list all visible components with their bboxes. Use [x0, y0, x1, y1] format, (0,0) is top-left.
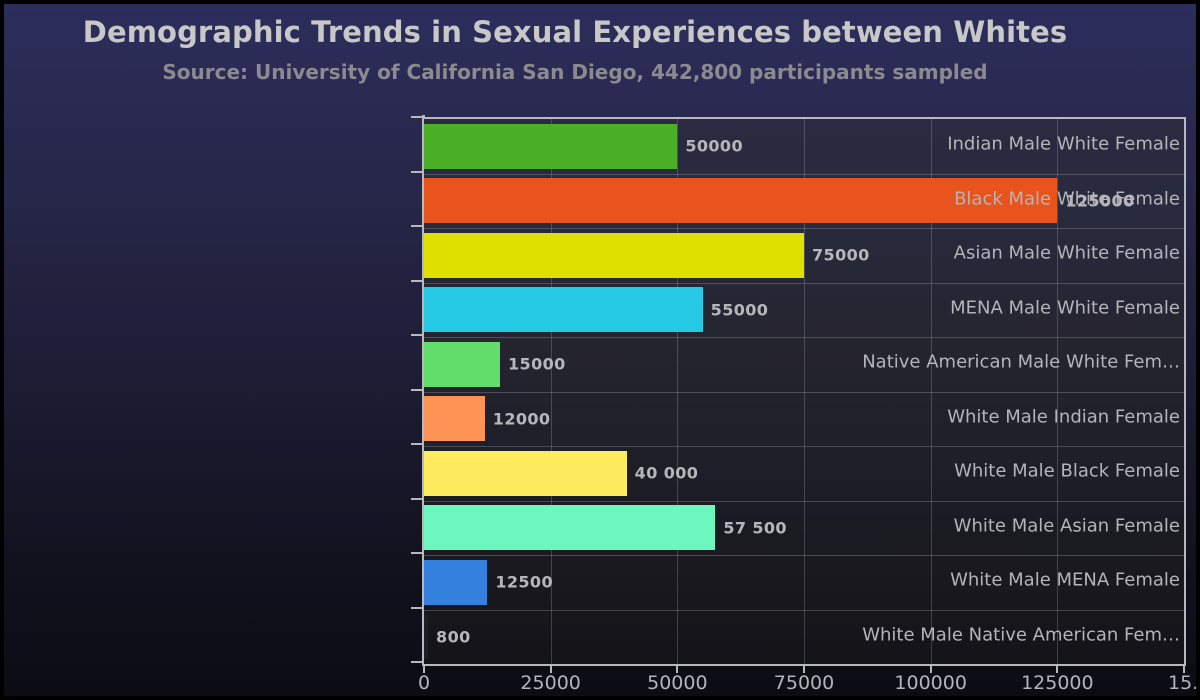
bar[interactable] [424, 505, 715, 550]
x-axis-tick-label: 125000 [1021, 672, 1094, 694]
bar[interactable] [424, 451, 627, 496]
x-axis-tick-label: 100000 [894, 672, 967, 694]
title-block: Demographic Trends in Sexual Experiences… [4, 14, 1196, 84]
y-axis-tick-label: Black Male White Female [786, 188, 1196, 209]
horizontal-gridline [424, 610, 1184, 611]
y-axis-tick-mark [411, 280, 422, 282]
bar-value-label: 12500 [495, 573, 553, 592]
bar-value-label: 40 000 [635, 464, 699, 483]
horizontal-gridline [424, 283, 1184, 284]
y-axis-tick-label: White Male Asian Female [786, 515, 1196, 536]
y-axis-tick-mark [411, 389, 422, 391]
bar[interactable] [424, 233, 804, 278]
bar-value-label: 15000 [508, 355, 566, 374]
y-axis-tick-mark [411, 607, 422, 609]
bar[interactable] [424, 560, 487, 605]
bar[interactable] [424, 396, 485, 441]
x-axis-tick-label: 0 [418, 672, 430, 694]
bar-value-label: 800 [436, 627, 471, 646]
x-axis-tick-label: 50000 [647, 672, 707, 694]
horizontal-gridline [424, 174, 1184, 175]
bar[interactable] [424, 614, 428, 659]
bar-value-label: 50000 [685, 137, 743, 156]
y-axis-tick-mark [411, 171, 422, 173]
y-axis-tick-label: White Male Black Female [786, 461, 1196, 482]
x-axis-tick-label: 75000 [774, 672, 834, 694]
y-axis-tick-mark [411, 498, 422, 500]
y-axis-tick-mark [411, 552, 422, 554]
horizontal-gridline [424, 446, 1184, 447]
y-axis-tick-mark [411, 225, 422, 227]
page-title: Demographic Trends in Sexual Experiences… [4, 14, 1196, 50]
y-axis-tick-label: Indian Male White Female [786, 134, 1196, 155]
y-axis-tick-label: Native American Male White Fem… [786, 352, 1196, 373]
bar-value-label: 57 500 [723, 518, 787, 537]
horizontal-gridline [424, 337, 1184, 338]
bar[interactable] [424, 124, 677, 169]
bar-value-label: 12000 [493, 409, 551, 428]
y-axis-tick-mark [411, 443, 422, 445]
y-axis-tick-label: White Male Indian Female [786, 406, 1196, 427]
chart-figure: Demographic Trends in Sexual Experiences… [0, 0, 1200, 700]
bar[interactable] [424, 287, 703, 332]
x-axis-tick-label: 15… [1168, 672, 1200, 694]
bar-value-label: 55000 [711, 300, 769, 319]
horizontal-gridline [424, 501, 1184, 502]
bar[interactable] [424, 342, 500, 387]
x-axis-tick-label: 25000 [520, 672, 580, 694]
y-axis-tick-mark [411, 661, 422, 663]
y-axis-tick-label: Asian Male White Female [786, 243, 1196, 264]
y-axis-tick-label: White Male Native American Fem… [786, 624, 1196, 645]
horizontal-gridline [424, 228, 1184, 229]
y-axis-tick-label: MENA Male White Female [786, 297, 1196, 318]
y-axis-tick-mark [411, 334, 422, 336]
chart-subtitle: Source: University of California San Die… [4, 60, 1196, 84]
y-axis-tick-label: White Male MENA Female [786, 570, 1196, 591]
horizontal-gridline [424, 392, 1184, 393]
y-axis-tick-mark [411, 116, 422, 118]
horizontal-gridline [424, 555, 1184, 556]
